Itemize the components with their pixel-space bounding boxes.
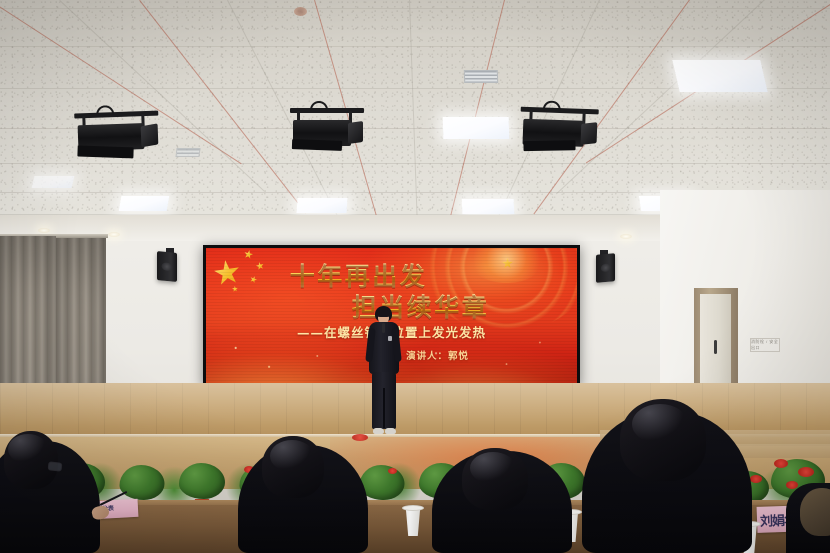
ceiling-panel-light: [32, 176, 75, 188]
hvac-vent: [175, 148, 200, 157]
smoke-detector-icon: [294, 7, 307, 16]
plant-foliage: [120, 465, 165, 500]
ceiling-grid-line: [0, 46, 830, 47]
hair-highlight: [270, 440, 314, 472]
stage-spotlight-left[interactable]: [74, 111, 160, 162]
spotlight-barndoor: [523, 140, 575, 151]
presenter-shoe-left: [373, 428, 384, 434]
presenter-badge: [388, 336, 392, 341]
spotlight-lens: [140, 123, 157, 147]
spotlight-barndoor: [292, 139, 342, 151]
red-flower: [750, 475, 762, 483]
recessed-downlight: [108, 232, 120, 237]
hair-highlight: [8, 434, 48, 464]
red-flower: [388, 468, 397, 474]
recessed-downlight: [38, 228, 50, 233]
ceiling-panel-light: [296, 198, 347, 213]
auditorium-scene: 消防栓 / 安全出口 十年再出发 担当续华章 ——在螺丝钉的位置上发光发热 演讲…: [0, 0, 830, 553]
hair-highlight: [632, 404, 688, 444]
spotlight-lens: [580, 122, 596, 145]
plant-foliage: [179, 463, 225, 499]
presenter-fringe: [376, 310, 391, 317]
presenter-on-stage: [362, 306, 406, 439]
wall-loudspeaker-right: [596, 253, 615, 283]
audience-head: [800, 488, 830, 536]
wall-loudspeaker-left: [157, 251, 177, 282]
ceiling-panel-light: [672, 60, 767, 92]
spotlight-lens: [348, 121, 363, 144]
hvac-vent: [464, 70, 498, 83]
spotlight-barndoor: [77, 145, 133, 158]
ceiling-panel-light: [462, 199, 515, 214]
red-flower: [798, 467, 814, 477]
recessed-downlight: [620, 234, 632, 239]
ceiling-grid-line: [0, 8, 830, 9]
stage-spotlight-center[interactable]: [290, 108, 364, 152]
presenter-leg-split: [383, 388, 385, 428]
paper-cup-rim: [402, 505, 424, 511]
stage-spotlight-right[interactable]: [519, 107, 599, 156]
door-handle[interactable]: [714, 340, 717, 354]
stage-flower: [352, 434, 368, 441]
handheld-microphone: [382, 323, 385, 333]
wall-safety-sign: 消防栓 / 安全出口: [750, 338, 780, 352]
hair-highlight: [470, 452, 516, 484]
red-flower: [774, 459, 788, 468]
eyeglasses: [48, 461, 63, 471]
presenter-shoe-right: [385, 428, 396, 434]
ceiling-panel-light: [443, 117, 510, 139]
ceiling-panel-light: [119, 196, 170, 211]
